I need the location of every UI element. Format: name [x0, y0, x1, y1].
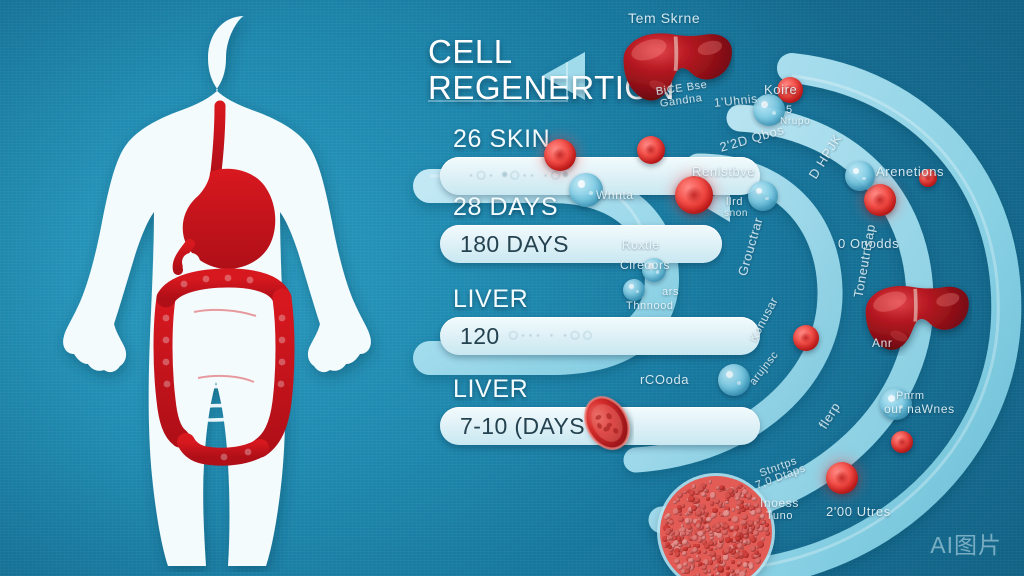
- white-blood-cell: [642, 258, 666, 282]
- white-blood-cell: [569, 173, 603, 207]
- label-pill-liver-120[interactable]: 120 ○··· · ·○○: [440, 317, 760, 355]
- white-blood-cell: [845, 161, 875, 191]
- white-blood-cell: [753, 94, 785, 126]
- red-blood-cell: [544, 139, 576, 171]
- liver-illustration-right: [862, 278, 972, 361]
- red-blood-cell: [919, 169, 937, 187]
- label-title-liver-120: LIVER: [440, 286, 760, 312]
- infographic-canvas: CELL REGENERTION 26 SKIN ·○· •○·· ·○• 28…: [0, 0, 1024, 576]
- cell-cluster-circle: [660, 476, 772, 576]
- title-line-1: CELL: [428, 34, 628, 70]
- human-body-silhouette: [28, 6, 408, 572]
- watermark: AI图片: [930, 526, 1002, 560]
- red-blood-cell: [891, 431, 913, 453]
- red-blood-cell-large: [580, 392, 634, 459]
- pill-faint-liver-120: ○··· · ·○○: [508, 325, 595, 347]
- body-shape: [63, 16, 371, 566]
- page-title: CELL REGENERTION: [428, 34, 628, 105]
- white-blood-cell: [623, 279, 645, 301]
- red-blood-cell: [864, 184, 896, 216]
- pill-value-liver-7-10: 7-10 (DAYS: [460, 413, 585, 440]
- label-pill-180-days[interactable]: 180 DAYS: [440, 225, 722, 263]
- red-blood-cell: [793, 325, 819, 351]
- red-blood-cell: [675, 176, 713, 214]
- red-blood-cell: [826, 462, 858, 494]
- title-divider-horizontal: [428, 100, 568, 102]
- label-title-skin: 26 SKIN: [440, 126, 760, 152]
- pill-value-liver-120: 120: [460, 323, 500, 350]
- white-blood-cell: [880, 388, 912, 420]
- label-group-liver-120[interactable]: LIVER 120 ○··· · ·○○: [440, 286, 760, 355]
- liver-illustration-top: [620, 25, 735, 112]
- white-blood-cell: [748, 181, 778, 211]
- pill-value-180-days: 180 DAYS: [460, 231, 569, 258]
- title-divider-vertical: [566, 62, 568, 100]
- red-blood-cell: [637, 136, 665, 164]
- white-blood-cell: [718, 364, 750, 396]
